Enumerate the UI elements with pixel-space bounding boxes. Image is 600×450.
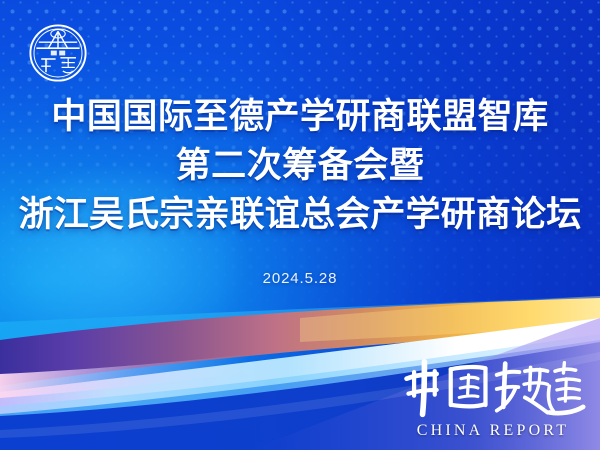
- conference-banner: 中国国际至德产学研商联盟智库 第二次筹备会暨 浙江吴氏宗亲联谊总会产学研商论坛 …: [0, 0, 600, 450]
- watermark-chinese-calligraphy: [398, 358, 588, 420]
- china-report-watermark: CHINA REPORT: [398, 358, 588, 440]
- title-line-2: 第二次筹备会暨: [0, 148, 600, 183]
- title-line-3: 浙江吴氏宗亲联谊总会产学研商论坛: [0, 197, 600, 232]
- title-line-1: 中国国际至德产学研商联盟智库: [0, 99, 600, 134]
- title-block: 中国国际至德产学研商联盟智库 第二次筹备会暨 浙江吴氏宗亲联谊总会产学研商论坛: [0, 99, 600, 232]
- zhide-emblem-logo: [28, 22, 88, 84]
- event-date: 2024.5.28: [0, 270, 600, 287]
- watermark-english-text: CHINA REPORT: [398, 422, 588, 440]
